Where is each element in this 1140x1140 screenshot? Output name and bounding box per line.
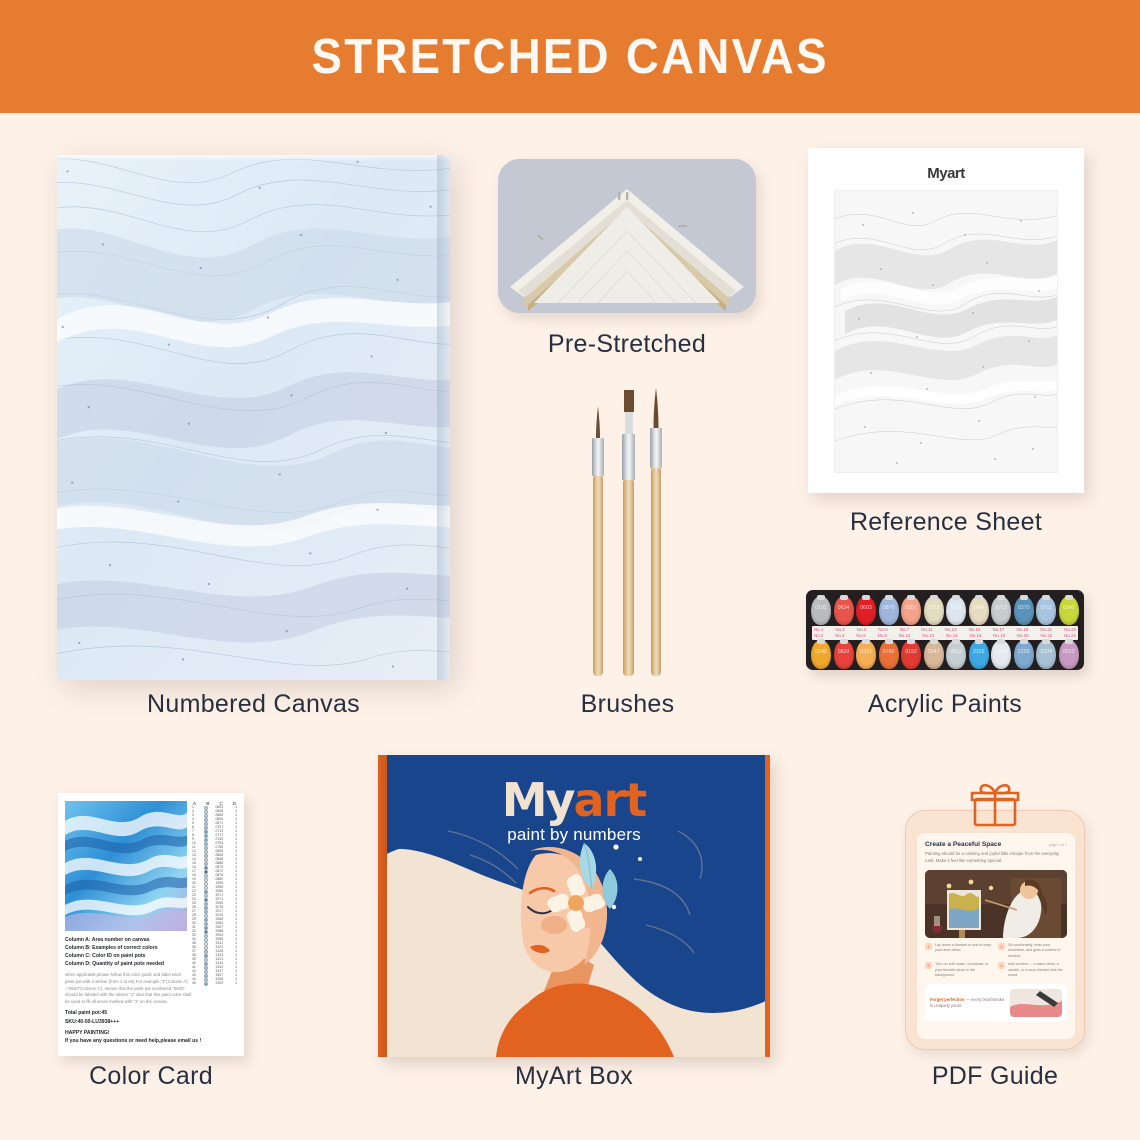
brush-tip-medium <box>652 388 661 428</box>
pdf-heading-accent: Create <box>925 841 946 848</box>
paint-pot: 0820 <box>834 640 854 669</box>
paint-strip-label: No.18 <box>993 634 1005 638</box>
label-brushes: Brushes <box>520 690 735 719</box>
pdf-tip-number: 3 <box>925 962 932 969</box>
pdf-subtitle: Painting should be a calming and joyful … <box>925 851 1067 865</box>
box-left-edge <box>378 755 387 1057</box>
pdf-guide-image: Create a Peaceful Space page 1 of 1 Pain… <box>905 810 1085 1050</box>
note-line: paint pot with a sticker (from 1 to 45).… <box>65 979 237 986</box>
box-right-edge <box>765 755 770 1057</box>
pdf-tip-text: Lay down a blanket or mat to keep your a… <box>935 943 994 960</box>
label-pdf-guide: PDF Guide <box>895 1062 1095 1091</box>
legend-line: Column B: Examples of correct colors <box>65 944 237 952</box>
paint-strip-label: No.15 <box>969 628 981 632</box>
paint-pot: 2102 <box>969 640 989 669</box>
label-reference-sheet: Reference Sheet <box>808 508 1084 537</box>
paint-pot: 0331 <box>856 640 876 669</box>
pdf-tip-text: Sit comfortably, relax your shoulders, a… <box>1008 943 1067 960</box>
brushstroke-image <box>1010 989 1062 1017</box>
myart-box-image: Myart paint by numbers <box>378 755 770 1057</box>
numbered-canvas-image <box>57 155 450 680</box>
canvas-corner-photo <box>498 159 756 313</box>
paint-pot: 2103 <box>1014 640 1034 669</box>
color-card-footer: Total paint pot:45 SKU:40-50-LU3938+++ H… <box>65 1009 237 1045</box>
logo-my-text: My <box>502 773 574 827</box>
paint-strip-label: No.20 <box>1017 634 1029 638</box>
box-tagline: paint by numbers <box>378 825 770 845</box>
contact-text: If you have any questions or need help,p… <box>65 1037 237 1045</box>
gift-icon <box>967 779 1023 829</box>
pdf-photo <box>925 870 1067 938</box>
paint-pot: 0870 <box>879 596 899 625</box>
paint-pot: 0370 <box>1014 596 1034 625</box>
paint-pot: 0342 <box>1059 596 1079 625</box>
myart-logo: Myart <box>378 773 770 827</box>
pdf-heading: Create a Peaceful Space <box>925 841 1001 848</box>
paint-strip-label: No.7 <box>900 628 909 632</box>
pdf-tip-text: Add comfort — a warm drink, a candle, or… <box>1008 962 1067 979</box>
instruction-note: when applicable,please follow this color… <box>65 972 237 1005</box>
paint-pot: 0634 <box>834 596 854 625</box>
color-card-image: ABCD 10603120608130655140659150671160707… <box>58 793 244 1056</box>
brush-tip-thin <box>594 406 602 438</box>
logo-art-text: art <box>574 773 647 827</box>
paint-strip-label: No.3 <box>857 628 866 632</box>
pdf-callout-text: Forget perfection — every brushstroke is… <box>930 997 1005 1010</box>
paint-strip-label: No.22 <box>1041 634 1053 638</box>
paint-pot: 0140 <box>811 640 831 669</box>
page-title: STRETCHED CANVAS <box>311 29 828 85</box>
paint-strip-label: No.2 <box>814 634 823 638</box>
infographic-page: STRETCHED CANVAS <box>0 0 1140 1140</box>
paint-pot: 0192 <box>811 596 831 625</box>
reference-sheet-image: Myart <box>808 148 1084 493</box>
paint-pot: 1931 <box>946 596 966 625</box>
acrylic-paints-tray: 0192063406030870085719221931190407120370… <box>806 590 1084 670</box>
pdf-tip-number: 2 <box>998 943 1005 950</box>
reference-marble-greyscale <box>834 190 1058 473</box>
legend-line: Column C: Color ID on paint pots <box>65 952 237 960</box>
paint-pot: 0711 <box>1036 596 1056 625</box>
sku-text: SKU:40-50-LU3938+++ <box>65 1018 237 1026</box>
paint-pot: 0012 <box>1059 640 1079 669</box>
header-banner: STRETCHED CANVAS <box>0 0 1140 113</box>
paint-pot: 0760 <box>879 640 899 669</box>
paint-strip-label: No.12 <box>899 634 911 638</box>
label-color-card: Color Card <box>38 1062 264 1091</box>
label-numbered-canvas: Numbered Canvas <box>57 690 450 719</box>
pdf-tip-text: Turn on soft music, a podcast, or your f… <box>935 962 994 979</box>
color-card-artwork <box>65 801 187 931</box>
paint-strip-label: No.24 <box>1064 634 1076 638</box>
myart-logo-reference: Myart <box>824 162 1068 184</box>
paint-label-strip: No.1No.2No.3No.5No.7No.11No.13No.15No.17… <box>812 626 1078 640</box>
brush-thin-round <box>593 411 603 676</box>
paint-pot: 0912 <box>946 640 966 669</box>
brush-flat <box>623 391 634 676</box>
paint-strip-label: No.13 <box>922 634 934 638</box>
paint-strip-label: No.5 <box>878 628 887 632</box>
note-line: ="0603"(Column C), means that the paint … <box>65 986 237 993</box>
total-paint-pot: Total paint pot:45 <box>65 1009 237 1017</box>
painting-scene-photo <box>925 870 1067 938</box>
paint-pot: 1794 <box>991 640 1011 669</box>
paint-pot: 0603 <box>856 596 876 625</box>
note-line: when applicable,please follow this color… <box>65 972 237 979</box>
canvas-top-highlight <box>57 155 450 161</box>
paint-strip-label: No.13 <box>945 628 957 632</box>
paint-pot: 0857 <box>901 596 921 625</box>
paint-strip-label: No.17 <box>993 628 1005 632</box>
paint-strip-label: No.21 <box>1040 628 1052 632</box>
brush-tip-flat <box>622 390 636 434</box>
paint-pot: 2047 <box>924 640 944 669</box>
label-myart-box: MyArt Box <box>378 1062 770 1091</box>
paint-pot: 1922 <box>924 596 944 625</box>
label-pre-stretched: Pre-Stretched <box>498 330 756 359</box>
legend-line: Column D: Quantity of paint pots needed <box>65 960 237 968</box>
pre-stretched-image <box>498 159 756 313</box>
color-legend-table: ABCD 10603120608130655140659150671160707… <box>192 801 237 931</box>
paint-strip-label: No.8 <box>878 634 887 638</box>
pdf-callout-image <box>1010 989 1062 1017</box>
pdf-tip-number: 4 <box>998 962 1005 969</box>
canvas-side-edge <box>437 155 450 680</box>
note-line: should be labeled with the sticker "1" a… <box>65 992 237 999</box>
pdf-tip: 1Lay down a blanket or mat to keep your … <box>925 943 994 960</box>
column-legend-text: Column A: Area number on canvasColumn B:… <box>65 936 237 968</box>
pdf-callout-accent: Forget perfection <box>930 997 964 1002</box>
canvas-face <box>57 155 450 680</box>
label-acrylic-paints: Acrylic Paints <box>806 690 1084 719</box>
paint-strip-label: No.16 <box>970 634 982 638</box>
paint-pot: 0152 <box>901 640 921 669</box>
pdf-tip: 2Sit comfortably, relax your shoulders, … <box>998 943 1067 960</box>
paint-pot-row-bottom: 0140082003310760015220470912210217942103… <box>811 640 1079 670</box>
paint-pot-row-top: 0192063406030870085719221931190407120370… <box>811 596 1079 626</box>
paint-strip-label: No.2 <box>835 628 844 632</box>
pdf-tips-list: 1Lay down a blanket or mat to keep your … <box>925 943 1067 979</box>
pdf-tip: 3Turn on soft music, a podcast, or your … <box>925 962 994 979</box>
happy-painting-text: HAPPY PAINTING! <box>65 1029 237 1037</box>
pdf-page-content: Create a Peaceful Space page 1 of 1 Pain… <box>917 833 1075 1039</box>
pdf-page-number: page 1 of 1 <box>1049 843 1067 847</box>
paint-strip-label: No.4 <box>835 634 844 638</box>
pdf-tip: 4Add comfort — a warm drink, a candle, o… <box>998 962 1067 979</box>
brushes-image <box>575 386 683 676</box>
pdf-tip-number: 1 <box>925 943 932 950</box>
paint-pot: 0712 <box>991 596 1011 625</box>
greyscale-marble <box>835 191 1058 473</box>
marble-pattern <box>57 155 450 680</box>
note-line: be used to fill all areas marked with "1… <box>65 999 237 1006</box>
paint-strip-label: No.11 <box>921 628 932 632</box>
paint-strip-label: No.23 <box>1064 628 1076 632</box>
paint-strip-label: No.19 <box>1017 628 1029 632</box>
paint-pot: 2204 <box>1036 640 1056 669</box>
pdf-heading-rest: a Peaceful Space <box>946 841 1002 848</box>
paint-strip-label: No.6 <box>856 634 865 638</box>
blue-marble-artwork <box>65 801 187 931</box>
paint-strip-label: No.1 <box>814 628 823 632</box>
legend-line: Column A: Area number on canvas <box>65 936 237 944</box>
paint-pot: 1904 <box>969 596 989 625</box>
pdf-callout: Forget perfection — every brushstroke is… <box>925 984 1067 1022</box>
paint-strip-label: No.14 <box>946 634 958 638</box>
brush-medium-round <box>651 396 661 676</box>
